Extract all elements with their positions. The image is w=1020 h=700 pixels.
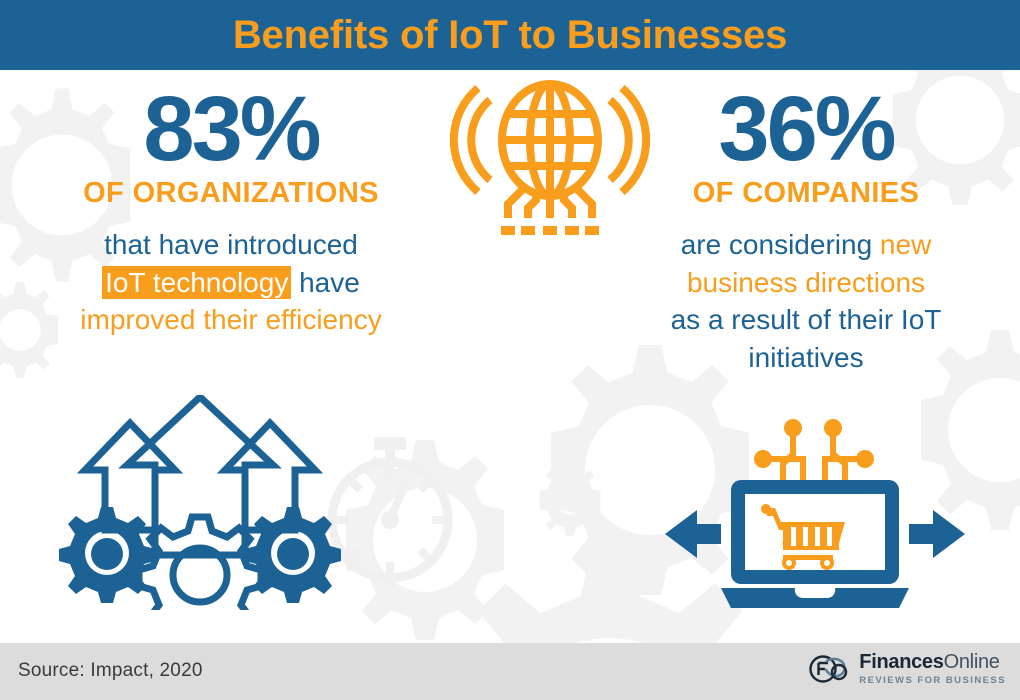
source-label: Source: Impact, 2020	[18, 660, 203, 682]
stat-line: that have introduced	[16, 226, 446, 264]
stat-text-segment: new	[880, 229, 931, 260]
stat-description-companies: are considering new business directions …	[600, 226, 1012, 376]
stat-text-segment: as a result of their IoT	[671, 304, 942, 335]
footer-bar: Source: Impact, 2020 FinancesOnline REVI…	[0, 643, 1020, 700]
stat-text-segment: business directions	[687, 267, 925, 298]
logo-tagline: REVIEWS FOR BUSINESS	[859, 676, 1006, 686]
stat-block-organizations: 83% OF ORGANIZATIONS that have introduce…	[16, 86, 446, 339]
arrows-and-gears-icon	[55, 395, 345, 615]
stopwatch-watermark-icon	[332, 462, 448, 578]
logo-name: FinancesOnline	[859, 652, 1006, 672]
stat-line: IoT technology have	[16, 264, 446, 302]
logo-name-light: Online	[944, 651, 1000, 673]
logo-text: FinancesOnline REVIEWS FOR BUSINESS	[859, 652, 1006, 686]
stat-line: as a result of their IoT	[600, 301, 1012, 339]
stat-text-highlight: IoT technology	[102, 266, 291, 299]
header-bar: Benefits of IoT to Businesses	[0, 0, 1020, 70]
stat-line: initiatives	[600, 339, 1012, 377]
stat-block-companies: 36% OF COMPANIES are considering new bus…	[600, 86, 1012, 376]
iot-globe-icon	[450, 78, 650, 243]
stat-subtitle-companies: OF COMPANIES	[600, 179, 1012, 208]
stat-line: are considering new	[600, 226, 1012, 264]
laptop-cart-icon	[655, 412, 975, 617]
stat-text-segment: initiatives	[748, 342, 863, 373]
stat-number-36: 36%	[600, 86, 1012, 173]
financesonline-mark-icon	[809, 652, 851, 686]
left-arrow-icon	[665, 510, 721, 558]
stat-line: business directions	[600, 264, 1012, 302]
stat-line: improved their efficiency	[16, 301, 446, 339]
financesonline-logo[interactable]: FinancesOnline REVIEWS FOR BUSINESS	[809, 652, 1006, 686]
infographic-canvas: Benefits of IoT to Businesses 83% OF ORG…	[0, 0, 1020, 700]
stat-subtitle-organizations: OF ORGANIZATIONS	[16, 179, 446, 208]
stat-text-segment: that have introduced	[104, 229, 358, 260]
page-title: Benefits of IoT to Businesses	[233, 15, 787, 55]
stat-number-83: 83%	[16, 86, 446, 173]
stat-text-segment: are considering	[681, 229, 880, 260]
stat-text-segment: improved their efficiency	[80, 304, 381, 335]
stat-text-segment: have	[291, 267, 360, 298]
stat-description-organizations: that have introduced IoT technology have…	[16, 226, 446, 339]
logo-name-bold: Finances	[859, 651, 943, 673]
right-arrow-icon	[909, 510, 965, 558]
